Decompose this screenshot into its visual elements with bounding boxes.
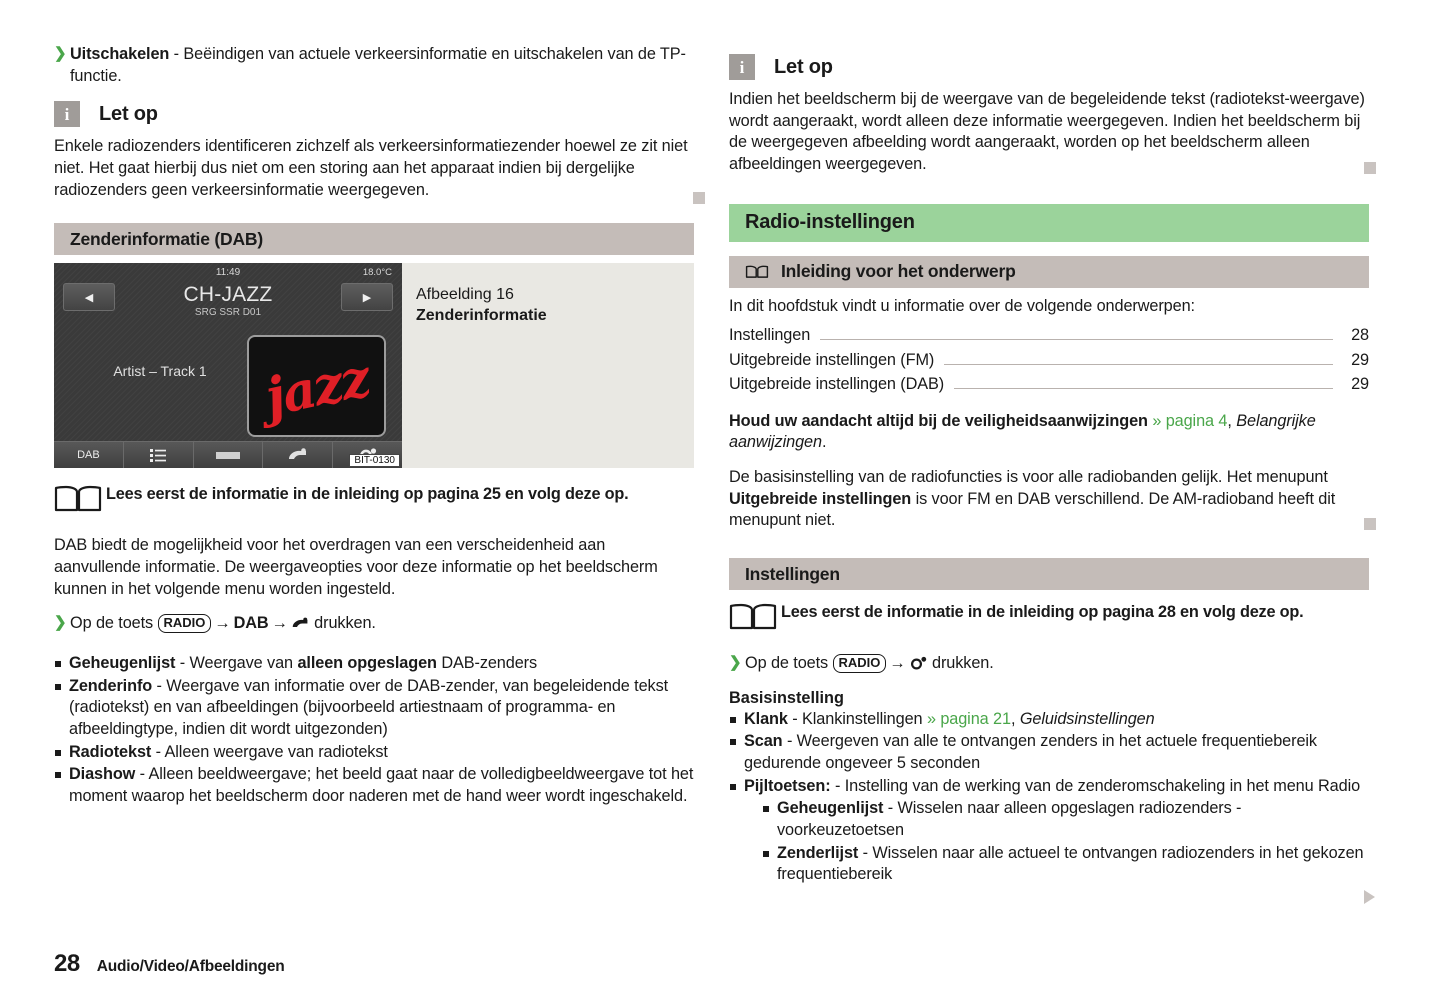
option-term: Scan bbox=[744, 732, 783, 750]
note-title: Let op bbox=[99, 103, 158, 126]
list-item: Zenderlijst - Wisselen naar alle actueel… bbox=[762, 843, 1369, 886]
read-first-text-left: Lees eerst de informatie in de inleiding… bbox=[106, 482, 629, 504]
arrow-glyph: → bbox=[269, 614, 291, 632]
chevron-right-icon: ❯ bbox=[54, 613, 66, 633]
footer-page-number: 28 bbox=[54, 950, 80, 978]
option-text: - Alleen weergave van radiotekst bbox=[151, 743, 388, 761]
option-term: Pijltoetsen: bbox=[744, 777, 831, 795]
action-line-left: ❯Op de toets RADIO→DAB→ drukken. bbox=[54, 613, 694, 637]
margin-marker-left bbox=[693, 192, 705, 204]
note-body-left: Enkele radiozenders identificeren zichze… bbox=[54, 136, 694, 201]
read-first-left: Lees eerst de informatie in de inleiding… bbox=[54, 482, 694, 519]
list-item: Scan - Weergeven van alle te ontvangen z… bbox=[729, 731, 1369, 774]
screen-button-dab[interactable]: DAB bbox=[54, 442, 124, 468]
option-term: Zenderinfo bbox=[69, 677, 152, 695]
figure-id-tag: BIT-0130 bbox=[349, 454, 400, 467]
screen-station-name: CH-JAZZ bbox=[54, 283, 402, 307]
slideshow-icon-svg bbox=[287, 448, 309, 462]
toc-page: 29 bbox=[1343, 372, 1369, 396]
toc-leader bbox=[820, 338, 1333, 340]
action-suffix: drukken. bbox=[310, 614, 376, 632]
page-footer: 28 Audio/Video/Afbeeldingen bbox=[54, 950, 285, 978]
section-bar-inleiding: Inleiding voor het onderwerp bbox=[729, 256, 1369, 288]
toc-label: Uitgebreide instellingen (FM) bbox=[729, 348, 934, 372]
note-header-right: i Let op bbox=[729, 54, 1369, 80]
list-item: Radiotekst - Alleen weergave van radiote… bbox=[54, 742, 694, 764]
radio-key-button[interactable]: RADIO bbox=[158, 614, 212, 633]
right-column: i Let op Indien het beeldscherm bij de w… bbox=[729, 44, 1369, 887]
bullet-term: Uitschakelen bbox=[70, 45, 169, 63]
option-comma: , bbox=[1011, 710, 1020, 728]
list-item: Diashow - Alleen beeldweergave; het beel… bbox=[54, 764, 694, 807]
settings-sub-options-list: Geheugenlijst - Wisselen naar alleen opg… bbox=[744, 798, 1369, 886]
basis-paragraph: De basisinstelling van de radiofuncties … bbox=[729, 467, 1369, 532]
screen-track-text: Artist – Track 1 bbox=[70, 363, 250, 379]
radiotext-icon-shape bbox=[216, 452, 240, 459]
option-term: Klank bbox=[744, 710, 788, 728]
margin-marker-right-mid bbox=[1364, 518, 1376, 530]
option-term: Radiotekst bbox=[69, 743, 151, 761]
info-icon: i bbox=[729, 54, 755, 80]
action-prefix: Op de toets bbox=[745, 654, 833, 672]
toc-row[interactable]: Uitgebreide instellingen (DAB) 29 bbox=[729, 372, 1369, 396]
action-prefix: Op de toets bbox=[70, 614, 158, 632]
slideshow-icon-svg bbox=[291, 617, 310, 630]
safety-bold: Houd uw aandacht altijd bij de veilighei… bbox=[729, 412, 1148, 430]
option-bold-2: alleen opgeslagen bbox=[297, 654, 436, 672]
screen-artwork: jazz bbox=[247, 335, 386, 437]
toc-leader bbox=[944, 363, 1333, 365]
option-italic: Geluidsinstellingen bbox=[1020, 710, 1155, 728]
book-icon bbox=[54, 482, 106, 519]
artwork-jazz-logo: jazz bbox=[260, 348, 374, 429]
left-column: ❯Uitschakelen - Beëindigen van actuele v… bbox=[54, 44, 694, 809]
book-icon-svg bbox=[729, 602, 777, 632]
screen-temperature: 18.0°C bbox=[363, 267, 392, 278]
section-bar-zenderinformatie: Zenderinformatie (DAB) bbox=[54, 223, 694, 255]
basisinstelling-heading: Basisinstelling bbox=[729, 689, 1369, 708]
section-bar-label: Inleiding voor het onderwerp bbox=[781, 261, 1016, 282]
screen-ensemble-name: SRG SSR D01 bbox=[54, 307, 402, 318]
option-text: - Weergeven van alle te ontvangen zender… bbox=[744, 732, 1317, 772]
safety-comma: , bbox=[1227, 412, 1236, 430]
toc-page: 29 bbox=[1343, 348, 1369, 372]
safety-note: Houd uw aandacht altijd bij de veilighei… bbox=[729, 411, 1369, 454]
list-item: Pijltoetsen: - Instelling van de werking… bbox=[729, 776, 1369, 886]
toc-label: Instellingen bbox=[729, 323, 810, 347]
note-body-right: Indien het beeldscherm bij de weergave v… bbox=[729, 89, 1369, 176]
read-first-text-right: Lees eerst de informatie in de inleiding… bbox=[781, 600, 1304, 622]
option-text: - Alleen beeldweergave; het beeld gaat n… bbox=[69, 765, 693, 805]
option-term: Geheugenlijst bbox=[69, 654, 175, 672]
action-line-right: ❯Op de toets RADIO→ drukken. bbox=[729, 653, 1369, 677]
toc-page: 28 bbox=[1343, 323, 1369, 347]
option-text: - Klankinstellingen bbox=[788, 710, 927, 728]
action-menu-dab: DAB bbox=[234, 614, 269, 632]
chapter-bar-radio-instellingen: Radio-instellingen bbox=[729, 204, 1369, 242]
margin-marker-continue-arrow bbox=[1364, 890, 1375, 904]
book-icon bbox=[729, 600, 781, 637]
settings-gear-icon bbox=[909, 655, 928, 677]
list-item: Zenderinfo - Weergave van informatie ove… bbox=[54, 676, 694, 741]
figure-caption: Afbeelding 16 Zenderinformatie bbox=[402, 263, 547, 468]
section-bar-instellingen: Instellingen bbox=[729, 558, 1369, 590]
screen-time: 11:49 bbox=[54, 267, 402, 278]
table-of-contents: Instellingen 28 Uitgebreide instellingen… bbox=[729, 323, 1369, 396]
figure-caption-line1: Afbeelding 16 bbox=[416, 285, 547, 306]
settings-gear-icon-svg bbox=[909, 656, 928, 670]
toc-row[interactable]: Uitgebreide instellingen (FM) 29 bbox=[729, 348, 1369, 372]
option-term: Zenderlijst bbox=[777, 844, 858, 862]
option-text-2: DAB-zenders bbox=[437, 654, 537, 672]
list-item: Geheugenlijst - Wisselen naar alleen opg… bbox=[762, 798, 1369, 841]
list-icon-svg bbox=[150, 449, 166, 462]
toc-row[interactable]: Instellingen 28 bbox=[729, 323, 1369, 347]
list-icon[interactable] bbox=[124, 442, 194, 468]
option-term: Geheugenlijst bbox=[777, 799, 883, 817]
option-text: - Wisselen naar alle actueel te ontvange… bbox=[777, 844, 1364, 884]
option-link[interactable]: » pagina 21 bbox=[927, 710, 1011, 728]
book-icon-svg bbox=[54, 484, 102, 514]
action-suffix: drukken. bbox=[928, 654, 994, 672]
dab-options-list: Geheugenlijst - Weergave van alleen opge… bbox=[54, 653, 694, 808]
list-item: Klank - Klankinstellingen » pagina 21, G… bbox=[729, 709, 1369, 731]
intro-text: In dit hoofdstuk vindt u informatie over… bbox=[729, 296, 1369, 318]
option-text: - Weergave van informatie over de DAB-ze… bbox=[69, 677, 668, 738]
toc-leader bbox=[954, 387, 1333, 389]
option-text: - Weergave van bbox=[175, 654, 297, 672]
radiotext-icon[interactable] bbox=[194, 442, 264, 468]
settings-options-list: Klank - Klankinstellingen » pagina 21, G… bbox=[729, 709, 1369, 886]
chevron-right-icon: ❯ bbox=[54, 44, 66, 64]
arrow-glyph: → bbox=[211, 614, 233, 632]
margin-marker-right-top bbox=[1364, 162, 1376, 174]
basis-text-1: De basisinstelling van de radiofuncties … bbox=[729, 468, 1328, 486]
note-title: Let op bbox=[774, 56, 833, 79]
basis-bold: Uitgebreide instellingen bbox=[729, 490, 911, 508]
slideshow-icon[interactable] bbox=[263, 442, 333, 468]
figure-16: 11:49 18.0°C ◀ ▶ CH-JAZZ SRG SSR D01 Art… bbox=[54, 263, 694, 468]
bullet-uitschakelen: ❯Uitschakelen - Beëindigen van actuele v… bbox=[54, 44, 694, 87]
radio-key-button[interactable]: RADIO bbox=[833, 654, 887, 673]
book-small-icon bbox=[745, 263, 769, 280]
safety-link[interactable]: » pagina 4 bbox=[1152, 412, 1227, 430]
info-icon: i bbox=[54, 101, 80, 127]
footer-section-title: Audio/Video/Afbeeldingen bbox=[97, 958, 285, 976]
arrow-glyph: → bbox=[886, 654, 908, 672]
option-text: - Instelling van de werking van de zende… bbox=[831, 777, 1361, 795]
chevron-right-icon: ❯ bbox=[729, 653, 741, 673]
slideshow-icon bbox=[291, 615, 310, 637]
radio-screen-mock: 11:49 18.0°C ◀ ▶ CH-JAZZ SRG SSR D01 Art… bbox=[54, 263, 402, 468]
book-small-icon-svg bbox=[745, 263, 769, 280]
figure-caption-line2: Zenderinformatie bbox=[416, 306, 547, 327]
toc-label: Uitgebreide instellingen (DAB) bbox=[729, 372, 944, 396]
list-item: Geheugenlijst - Weergave van alleen opge… bbox=[54, 653, 694, 675]
safety-end: . bbox=[822, 433, 826, 451]
read-first-right: Lees eerst de informatie in de inleiding… bbox=[729, 600, 1369, 637]
manual-page: ❯Uitschakelen - Beëindigen van actuele v… bbox=[0, 0, 1445, 998]
option-term: Diashow bbox=[69, 765, 135, 783]
note-header-left: i Let op bbox=[54, 101, 694, 127]
dab-intro-paragraph: DAB biedt de mogelijkheid voor het overd… bbox=[54, 535, 694, 600]
